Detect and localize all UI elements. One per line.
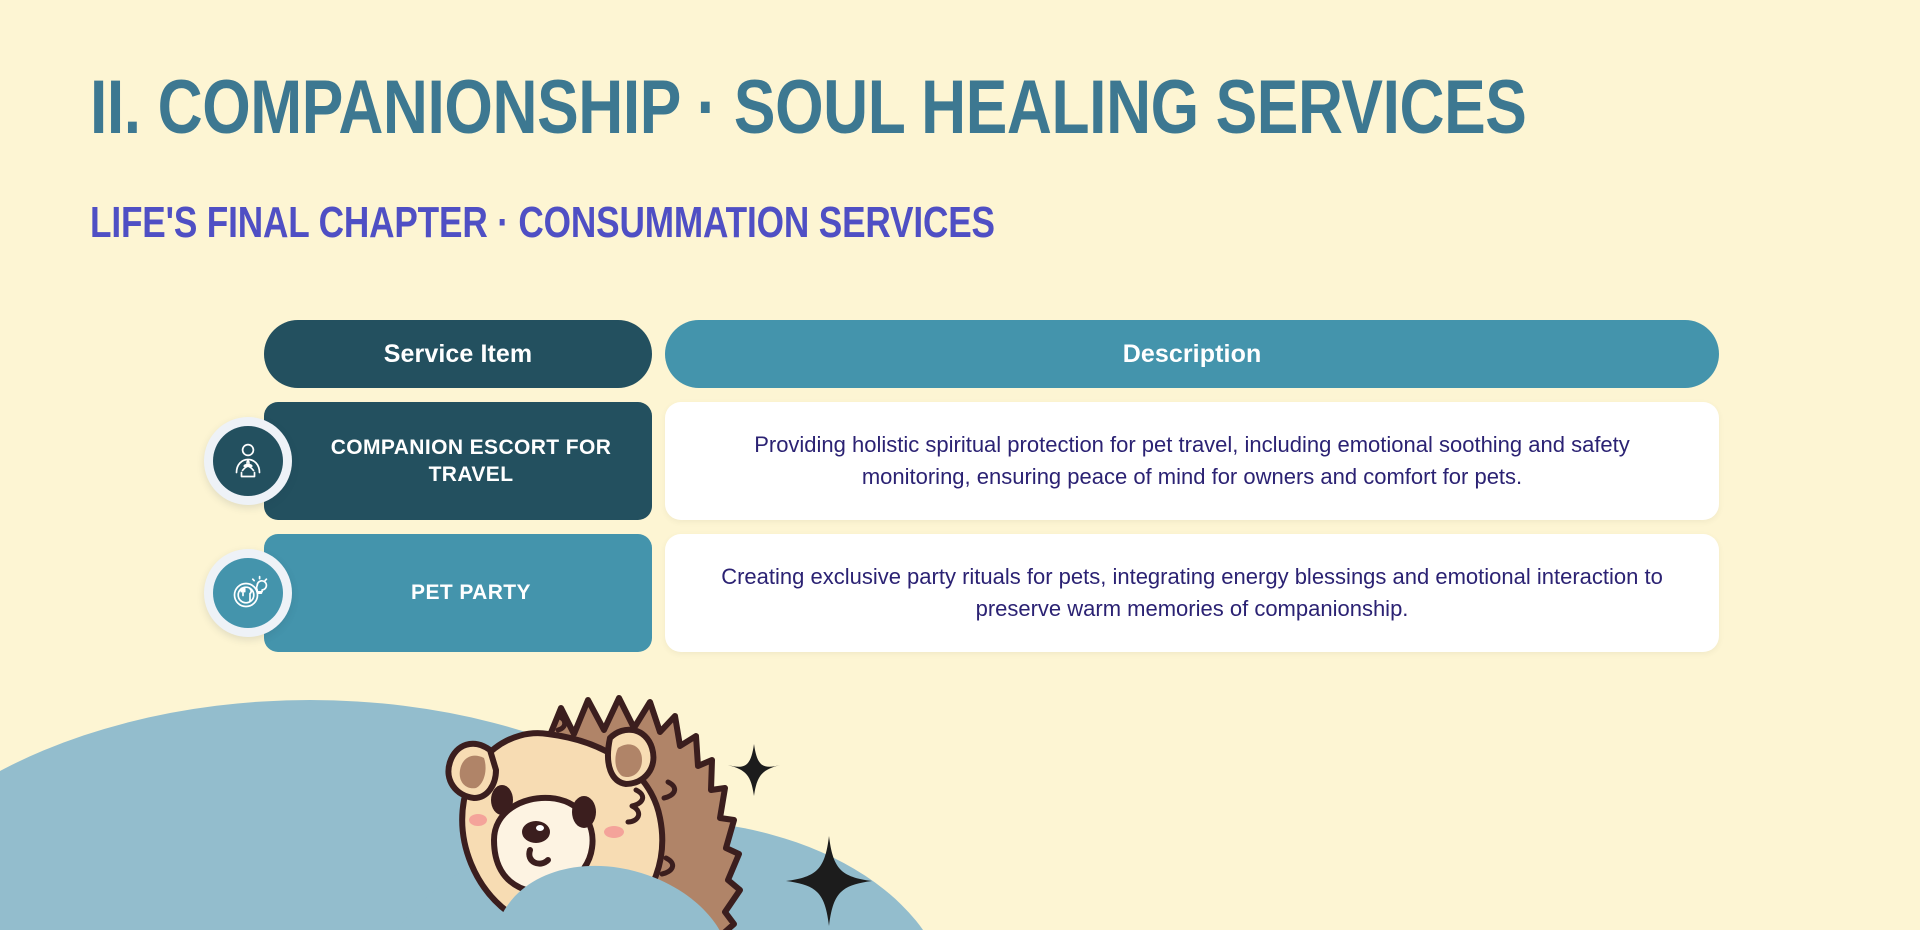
row-icon-badge [204, 417, 292, 505]
row-icon-badge [204, 549, 292, 637]
page-subtitle: LIFE'S FINAL CHAPTER · CONSUMMATION SERV… [90, 145, 1450, 245]
service-item-cell[interactable]: COMPANION ESCORT FOR TRAVEL [264, 402, 652, 520]
column-header-description: Description [665, 320, 1719, 388]
service-item-label: COMPANION ESCORT FOR TRAVEL [316, 434, 626, 489]
table-row[interactable]: COMPANION ESCORT FOR TRAVEL Providing ho… [264, 402, 1719, 520]
service-item-cell[interactable]: PET PARTY [264, 534, 652, 652]
heading-block: II. COMPANIONSHIP · SOUL HEALING SERVICE… [90, 72, 1790, 245]
services-table: Service Item Description [264, 320, 1719, 652]
service-description-cell: Creating exclusive party rituals for pet… [665, 534, 1719, 652]
column-header-service-item: Service Item [264, 320, 652, 388]
slide-canvas: II. COMPANIONSHIP · SOUL HEALING SERVICE… [0, 0, 1920, 930]
table-row[interactable]: PET PARTY Creating exclusive party ritua… [264, 534, 1719, 652]
service-item-label: PET PARTY [411, 579, 531, 606]
table-header-row: Service Item Description [264, 320, 1719, 388]
service-description-cell: Providing holistic spiritual protection … [665, 402, 1719, 520]
person-holding-plant-icon [213, 426, 283, 496]
party-plate-bulb-icon [213, 558, 283, 628]
page-title: II. COMPANIONSHIP · SOUL HEALING SERVICE… [90, 72, 1484, 145]
hedgehog-illustration [398, 672, 828, 930]
